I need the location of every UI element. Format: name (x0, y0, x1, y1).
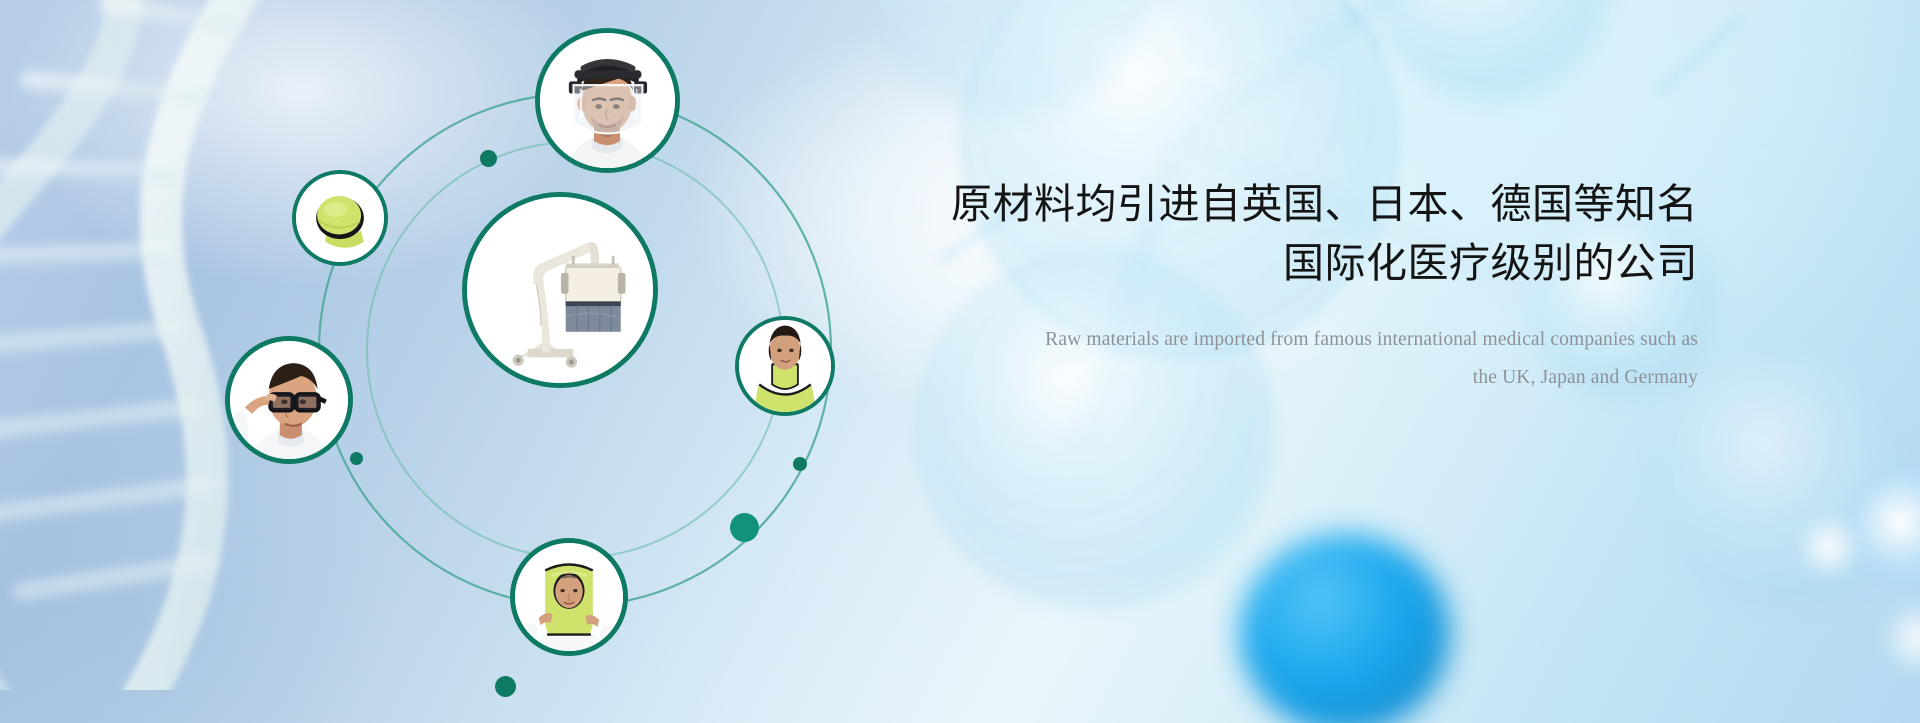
product-circle-mobile-shield[interactable] (462, 192, 658, 388)
product-circle-protective-hood[interactable] (510, 538, 628, 656)
mobile-radiation-shield-icon (467, 197, 653, 383)
glow-highlight-decor-a (1794, 512, 1864, 582)
product-circle-face-shield[interactable] (535, 28, 680, 173)
glow-highlight-decor-b (1878, 598, 1920, 678)
subtitle-line-2: the UK, Japan and Germany (918, 359, 1698, 397)
product-circle-thyroid-collar[interactable] (735, 316, 835, 416)
product-circle-lead-cap[interactable] (292, 170, 388, 266)
protective-hood-icon (515, 543, 623, 651)
product-circle-lead-glasses[interactable] (225, 336, 353, 464)
accent-node-4 (730, 513, 759, 542)
accent-node-2 (350, 452, 363, 465)
headline-line-1: 原材料均引进自英国、日本、德国等知名 (918, 176, 1698, 233)
lead-glasses-icon (230, 341, 348, 459)
banner-copy: 原材料均引进自英国、日本、德国等知名 国际化医疗级别的公司 Raw materi… (918, 176, 1698, 397)
accent-node-3 (793, 457, 807, 471)
lead-cap-icon (296, 174, 384, 262)
subtitle-line-1: Raw materials are imported from famous i… (918, 321, 1698, 359)
pale-sphere-decor (1848, 466, 1920, 590)
subtitle-block: Raw materials are imported from famous i… (918, 321, 1698, 397)
hero-banner: 原材料均引进自英国、日本、德国等知名 国际化医疗级别的公司 Raw materi… (0, 0, 1920, 723)
headline-line-2: 国际化医疗级别的公司 (918, 235, 1698, 292)
thyroid-collar-icon (739, 320, 831, 412)
accent-node-1 (480, 150, 497, 167)
face-shield-icon (540, 33, 675, 168)
blue-sphere-decor (1240, 534, 1450, 723)
accent-node-5 (495, 676, 516, 697)
